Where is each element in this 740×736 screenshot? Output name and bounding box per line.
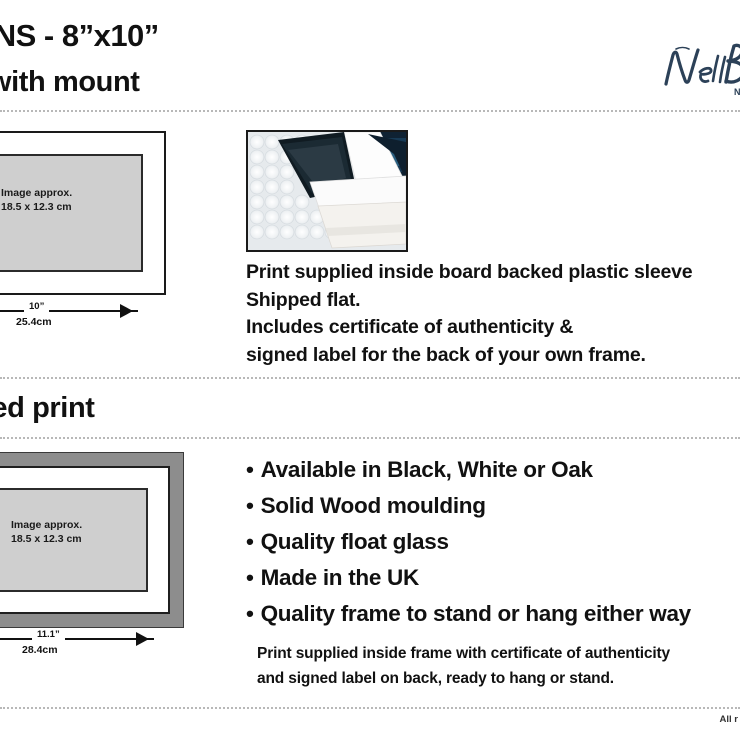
mount-image-area: Image approx. 18.5 x 12.3 cm bbox=[0, 154, 143, 272]
arrowhead-icon bbox=[120, 304, 133, 318]
list-item: •Solid Wood moulding bbox=[246, 488, 740, 524]
bullet-icon: • bbox=[246, 601, 254, 626]
product-photo bbox=[246, 130, 408, 252]
mount-description-line-1: Print supplied inside board backed plast… bbox=[246, 259, 740, 287]
list-item-label: Solid Wood moulding bbox=[261, 493, 486, 518]
list-item-label: Available in Black, White or Oak bbox=[261, 457, 593, 482]
frame-image-size-label: Image approx. 18.5 x 12.3 cm bbox=[11, 518, 82, 546]
brand-logo: NB bbox=[660, 36, 740, 98]
bullet-icon: • bbox=[246, 457, 254, 482]
frame-width-inches: 11.1” bbox=[32, 629, 65, 640]
dimension-line bbox=[0, 638, 154, 640]
frame-image-area: Image approx. 18.5 x 12.3 cm bbox=[0, 488, 148, 592]
arrowhead-icon bbox=[136, 632, 149, 646]
mount-description-line-2: Shipped flat. bbox=[246, 287, 740, 315]
mount-description-line-3: Includes certificate of authenticity & bbox=[246, 314, 740, 342]
list-item: •Quality frame to stand or hang either w… bbox=[246, 596, 740, 632]
frame-width-dimension: 11.1” 28.4cm bbox=[0, 630, 193, 664]
list-item-label: Quality float glass bbox=[261, 529, 449, 554]
frame-width-cm: 28.4cm bbox=[22, 644, 58, 656]
bullet-icon: • bbox=[246, 529, 254, 554]
frame-feature-list: •Available in Black, White or Oak •Solid… bbox=[246, 452, 740, 632]
mount-width-dimension: 10” 25.4cm bbox=[0, 302, 175, 336]
frame-glass-area: Image approx. 18.5 x 12.3 cm bbox=[0, 466, 170, 614]
mount-section-heading: t with mount bbox=[0, 66, 140, 99]
signature-logo-icon bbox=[660, 36, 740, 98]
divider-middle bbox=[0, 377, 740, 379]
logo-monogram: NB bbox=[734, 87, 740, 97]
mount-description-line-4: signed label for the back of your own fr… bbox=[246, 342, 740, 370]
list-item: •Available in Black, White or Oak bbox=[246, 452, 740, 488]
dimension-line bbox=[0, 310, 138, 312]
frame-description: Print supplied inside frame with certifi… bbox=[257, 641, 740, 691]
list-item-label: Quality frame to stand or hang either wa… bbox=[261, 601, 691, 626]
mount-diagram: Image approx. 18.5 x 12.3 cm bbox=[0, 131, 166, 295]
mounted-prints-photo-icon bbox=[248, 132, 406, 250]
list-item-label: Made in the UK bbox=[261, 565, 419, 590]
framed-section-heading: med print bbox=[0, 392, 95, 425]
product-info-sheet: IONS - 8”x10” t with mount NB Image appr… bbox=[0, 0, 740, 736]
divider-framed bbox=[0, 437, 740, 439]
mount-image-size-label: Image approx. 18.5 x 12.3 cm bbox=[1, 186, 72, 214]
frame-description-line-1: Print supplied inside frame with certifi… bbox=[257, 641, 740, 666]
divider-top bbox=[0, 110, 740, 112]
frame-description-line-2: and signed label on back, ready to hang … bbox=[257, 666, 740, 691]
bullet-icon: • bbox=[246, 565, 254, 590]
page-title: IONS - 8”x10” bbox=[0, 18, 159, 54]
divider-bottom bbox=[0, 707, 740, 709]
mount-description: Print supplied inside board backed plast… bbox=[246, 259, 740, 369]
mount-width-inches: 10” bbox=[24, 301, 49, 312]
mount-width-cm: 25.4cm bbox=[16, 316, 52, 328]
bullet-icon: • bbox=[246, 493, 254, 518]
footer-note: All r bbox=[720, 714, 738, 725]
list-item: •Quality float glass bbox=[246, 524, 740, 560]
list-item: •Made in the UK bbox=[246, 560, 740, 596]
frame-diagram: Image approx. 18.5 x 12.3 cm bbox=[0, 452, 184, 628]
